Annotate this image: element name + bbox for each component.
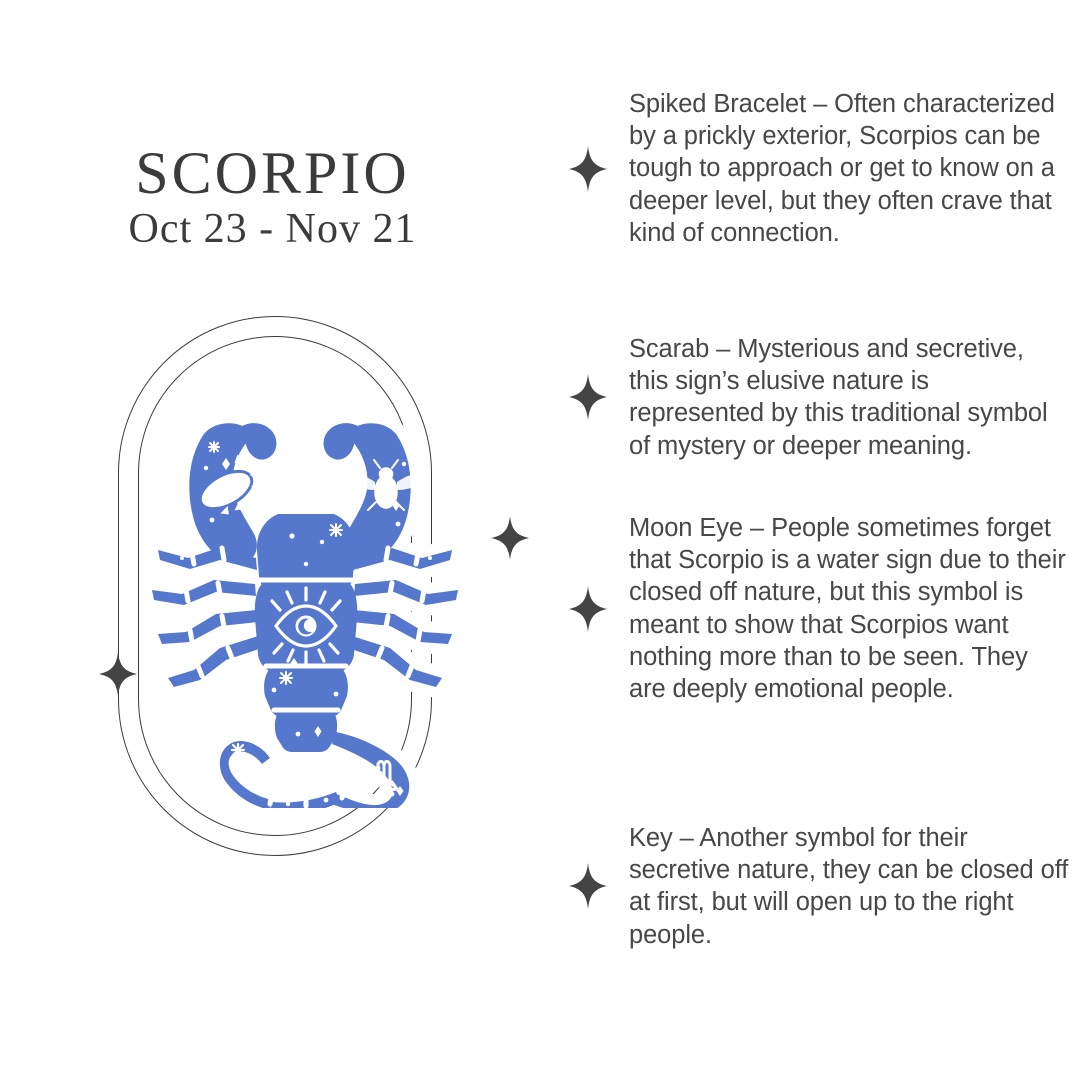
sparkle-icon: [567, 863, 609, 909]
frame-sparkle-left-icon: [99, 652, 137, 701]
trait-description: Key – Another symbol for their secretive…: [629, 822, 1080, 951]
sparkle-icon: [567, 146, 609, 192]
sign-date-range: Oct 23 - Nov 21: [0, 208, 545, 250]
list-item: Moon Eye – People sometimes forget that …: [545, 512, 1080, 705]
frame-sparkle-right-icon: [491, 516, 529, 565]
list-item: Scarab – Mysterious and secretive, this …: [545, 333, 1080, 462]
tail-sparkle-icon: [232, 744, 244, 756]
sparkle-icon: [567, 586, 609, 632]
scorpion-illustration: [146, 408, 466, 808]
sparkle-icon: [567, 374, 609, 420]
trait-description: Moon Eye – People sometimes forget that …: [629, 512, 1080, 705]
list-item: Spiked Bracelet – Often characterized by…: [545, 88, 1080, 249]
left-column: SCORPIO Oct 23 - Nov 21: [0, 0, 545, 1080]
page-title: SCORPIO: [0, 143, 545, 203]
traits-list: Spiked Bracelet – Often characterized by…: [545, 0, 1080, 1080]
list-item: Key – Another symbol for their secretive…: [545, 822, 1080, 951]
zodiac-infographic-page: SCORPIO Oct 23 - Nov 21: [0, 0, 1080, 1080]
trait-description: Spiked Bracelet – Often characterized by…: [629, 88, 1080, 249]
trait-description: Scarab – Mysterious and secretive, this …: [629, 333, 1080, 462]
